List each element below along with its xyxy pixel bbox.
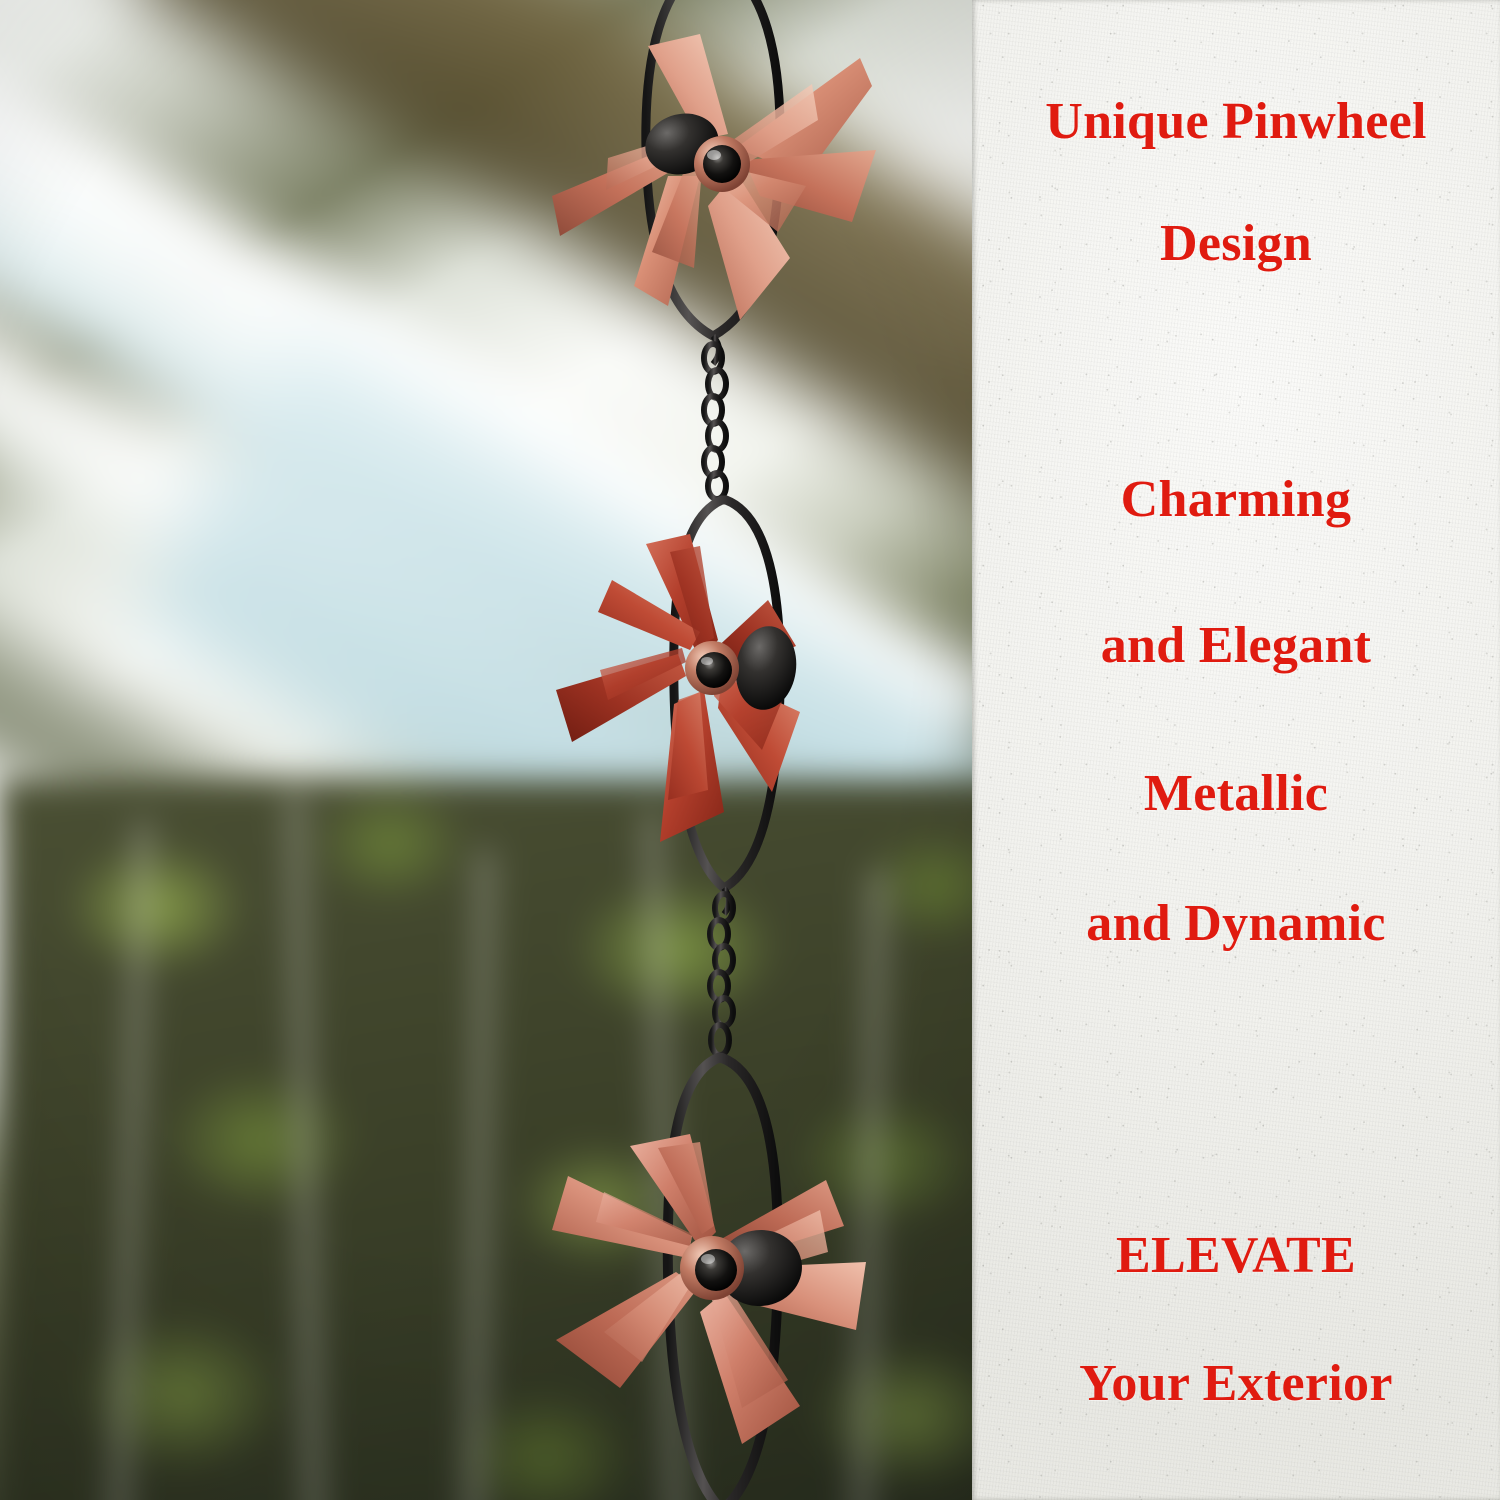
cta-line-2: Your Exterior — [972, 1358, 1500, 1410]
product-marketing-image: Unique Pinwheel Design Charming and Eleg… — [0, 0, 1500, 1500]
hub-highlight — [707, 150, 721, 160]
marketing-copy: Unique Pinwheel Design Charming and Eleg… — [972, 0, 1500, 1500]
product-photo-panel — [0, 0, 972, 1500]
cta-line-1: ELEVATE — [972, 1230, 1500, 1282]
body-line-4: and Dynamic — [972, 898, 1500, 950]
marketing-text-panel: Unique Pinwheel Design Charming and Eleg… — [972, 0, 1500, 1500]
body-line-2: and Elegant — [972, 620, 1500, 672]
pinwheel-unit-middle — [556, 500, 802, 888]
headline-line-2: Design — [972, 218, 1500, 270]
chain-bottom — [710, 888, 733, 1055]
hub-highlight — [701, 1254, 715, 1264]
hub-highlight — [701, 657, 713, 665]
hub-bottom — [695, 1249, 737, 1291]
body-line-3: Metallic — [972, 768, 1500, 820]
hub-middle — [696, 652, 732, 688]
chain-top — [704, 336, 726, 499]
pinwheel-ornament — [0, 0, 972, 1500]
body-line-1: Charming — [972, 474, 1500, 526]
pinwheel-unit-bottom — [552, 1058, 866, 1500]
headline-line-1: Unique Pinwheel — [972, 96, 1500, 148]
pinwheel-unit-top — [552, 0, 876, 336]
hub-top — [703, 145, 741, 183]
